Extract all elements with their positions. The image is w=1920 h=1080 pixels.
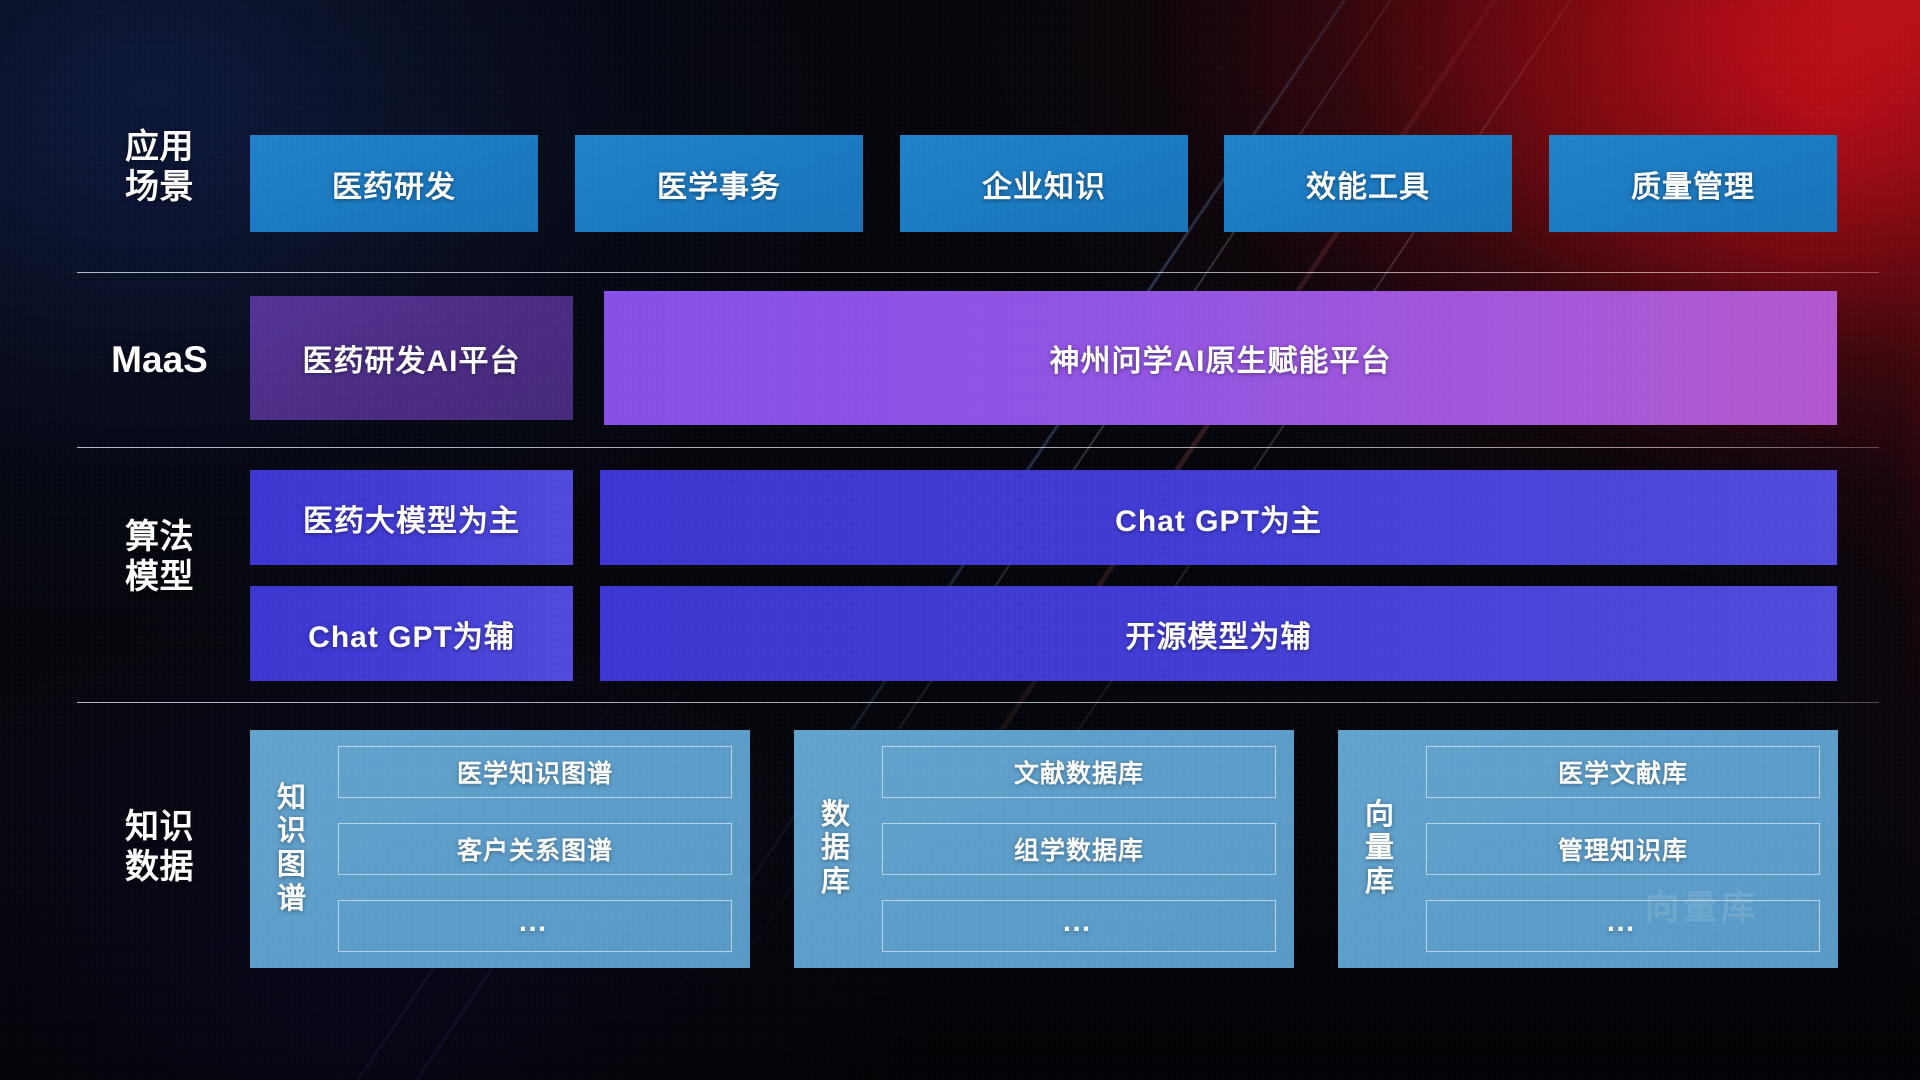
app-box-efficiency-tools-label: 效能工具 <box>1306 162 1430 206</box>
row-label-knowledge-data-line2: 数据 <box>77 848 242 888</box>
model-box-chatgpt-secondary[interactable]: Chat GPT为辅 <box>250 586 573 681</box>
model-box-chatgpt-secondary-label: Chat GPT为辅 <box>308 612 515 656</box>
database-item-omics-db[interactable]: 组学数据库 <box>882 823 1276 875</box>
app-box-quality-management-label: 质量管理 <box>1631 162 1755 206</box>
app-box-enterprise-knowledge-label: 企业知识 <box>982 162 1106 206</box>
maas-box-drug-rd-ai-platform-label: 医药研发AI平台 <box>303 336 521 380</box>
knowledge-panel-vector-store-title: 向量库 <box>1352 746 1408 952</box>
row-label-application-line1: 应用 <box>77 128 242 168</box>
vector-item-management-knowledge[interactable]: 管理知识库 <box>1426 823 1820 875</box>
divider-application-maas <box>77 272 1879 273</box>
knowledge-panel-knowledge-graph-items: 医学知识图谱 客户关系图谱 … <box>338 746 732 952</box>
database-item-literature-db[interactable]: 文献数据库 <box>882 746 1276 798</box>
row-label-maas-line1: MaaS <box>77 338 242 381</box>
app-box-enterprise-knowledge[interactable]: 企业知识 <box>900 135 1188 232</box>
row-label-knowledge-data: 知识 数据 <box>77 808 242 888</box>
app-box-efficiency-tools[interactable]: 效能工具 <box>1224 135 1512 232</box>
vector-item-more[interactable]: … <box>1426 900 1820 952</box>
row-label-algorithm-model-line2: 模型 <box>77 558 242 598</box>
knowledge-panel-knowledge-graph-title: 知识图谱 <box>264 746 320 952</box>
knowledge-panel-database-title: 数据库 <box>808 746 864 952</box>
vector-item-medical-literature[interactable]: 医学文献库 <box>1426 746 1820 798</box>
knowledge-panel-vector-store-items: 医学文献库 管理知识库 … <box>1426 746 1820 952</box>
model-box-opensource-secondary-label: 开源模型为辅 <box>1126 612 1312 656</box>
model-box-chatgpt-primary-label: Chat GPT为主 <box>1115 496 1322 540</box>
knowledge-panel-vector-store[interactable]: 向量库 医学文献库 管理知识库 … <box>1338 730 1838 968</box>
model-box-chatgpt-primary[interactable]: Chat GPT为主 <box>600 470 1837 565</box>
maas-box-drug-rd-ai-platform[interactable]: 医药研发AI平台 <box>250 296 573 420</box>
app-box-quality-management[interactable]: 质量管理 <box>1549 135 1837 232</box>
row-label-algorithm-model-line1: 算法 <box>77 518 242 558</box>
knowledge-panel-database[interactable]: 数据库 文献数据库 组学数据库 … <box>794 730 1294 968</box>
maas-box-shenzhou-wenxue-platform[interactable]: 神州问学AI原生赋能平台 <box>604 291 1837 425</box>
row-label-knowledge-data-line1: 知识 <box>77 808 242 848</box>
knowledge-item-customer-relation-kg[interactable]: 客户关系图谱 <box>338 823 732 875</box>
model-box-opensource-secondary[interactable]: 开源模型为辅 <box>600 586 1837 681</box>
divider-model-knowledge <box>77 702 1879 703</box>
model-box-pharma-llm-primary-label: 医药大模型为主 <box>303 496 520 540</box>
knowledge-item-medical-kg[interactable]: 医学知识图谱 <box>338 746 732 798</box>
app-box-drug-rd-label: 医药研发 <box>332 162 456 206</box>
row-label-application-line2: 场景 <box>77 168 242 208</box>
maas-box-shenzhou-wenxue-platform-label: 神州问学AI原生赋能平台 <box>1050 336 1392 380</box>
app-box-medical-affairs[interactable]: 医学事务 <box>575 135 863 232</box>
divider-maas-model <box>77 447 1879 448</box>
knowledge-item-more-kg[interactable]: … <box>338 900 732 952</box>
database-item-more[interactable]: … <box>882 900 1276 952</box>
knowledge-panel-knowledge-graph[interactable]: 知识图谱 医学知识图谱 客户关系图谱 … <box>250 730 750 968</box>
knowledge-panel-database-items: 文献数据库 组学数据库 … <box>882 746 1276 952</box>
row-label-application: 应用 场景 <box>77 128 242 208</box>
row-label-algorithm-model: 算法 模型 <box>77 518 242 598</box>
app-box-medical-affairs-label: 医学事务 <box>657 162 781 206</box>
row-label-maas: MaaS <box>77 338 242 381</box>
model-box-pharma-llm-primary[interactable]: 医药大模型为主 <box>250 470 573 565</box>
architecture-diagram: 应用 场景 医药研发 医学事务 企业知识 效能工具 质量管理 MaaS 医药研发… <box>0 0 1920 1080</box>
app-box-drug-rd[interactable]: 医药研发 <box>250 135 538 232</box>
